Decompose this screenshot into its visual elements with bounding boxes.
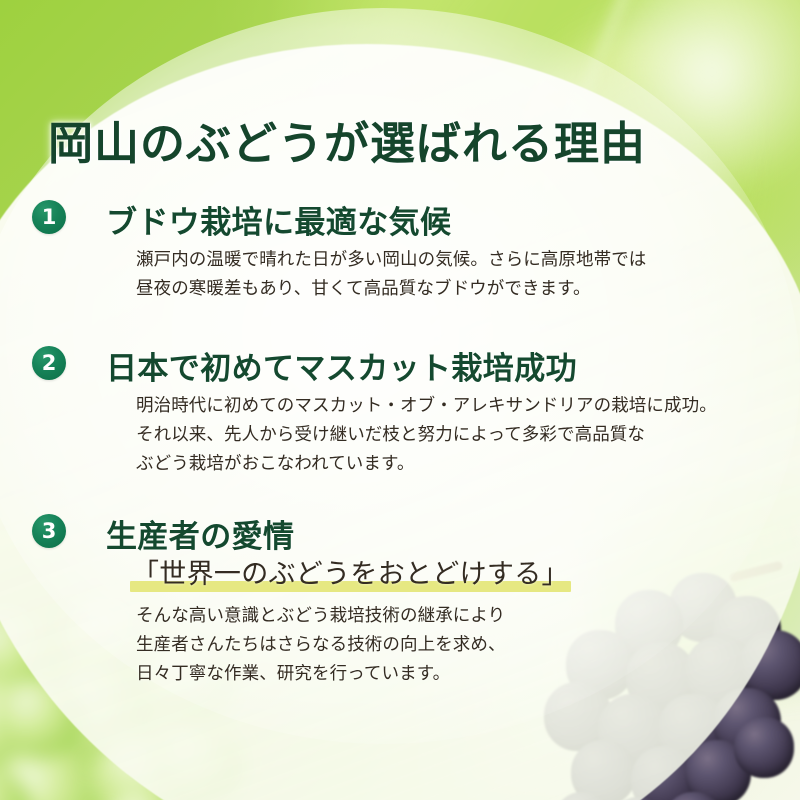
reason-body-line: 生産者さんたちはさらなる技術の向上を求め、 [136,631,506,660]
reason-body-3: そんな高い意識とぶどう栽培技術の継承により 生産者さんたちはさらなる技術の向上を… [136,602,506,689]
reason-heading-3: 生産者の愛情 [106,511,294,556]
reason-quote-3: 「世界一のぶどうをおとどけする」 [130,556,571,594]
reason-quote-wrap-3: 「世界一のぶどうをおとどけする」 [130,556,571,594]
reason-body-line: 瀬戸内の温暖で晴れた日が多い岡山の気候。さらに高原地帯では [136,246,646,275]
content-layer: 岡山のぶどうが選ばれる理由 1 ブドウ栽培に最適な気候 瀬戸内の温暖で晴れた日が… [0,0,800,800]
reason-heading-1: ブドウ栽培に最適な気候 [106,197,451,242]
reason-body-line: ぶどう栽培がおこなわれています。 [136,450,717,479]
reason-body-1: 瀬戸内の温暖で晴れた日が多い岡山の気候。さらに高原地帯では 昼夜の寒暖差もあり、… [136,246,646,304]
reason-heading-2: 日本で初めてマスカット栽培成功 [106,343,577,388]
reason-body-line: 明治時代に初めてのマスカット・オブ・アレキサンドリアの栽培に成功。 [136,392,717,421]
reason-number-badge-3: 3 [32,514,66,548]
reason-body-line: それ以来、先人から受け継いだ枝と努力によって多彩で高品質な [136,421,717,450]
quote-text: 「世界一のぶどうをおとどけする」 [132,559,569,590]
reason-body-2: 明治時代に初めてのマスカット・オブ・アレキサンドリアの栽培に成功。 それ以来、先… [136,392,717,479]
promo-banner: 岡山のぶどうが選ばれる理由 1 ブドウ栽培に最適な気候 瀬戸内の温暖で晴れた日が… [0,0,800,800]
reason-body-line: 日々丁寧な作業、研究を行っています。 [136,660,506,689]
reason-number-badge-1: 1 [32,200,66,234]
reason-body-line: 昼夜の寒暖差もあり、甘くて高品質なブドウができます。 [136,275,646,304]
reason-body-line: そんな高い意識とぶどう栽培技術の継承により [136,602,506,631]
reason-number-badge-2: 2 [32,346,66,380]
page-title: 岡山のぶどうが選ばれる理由 [48,107,646,172]
